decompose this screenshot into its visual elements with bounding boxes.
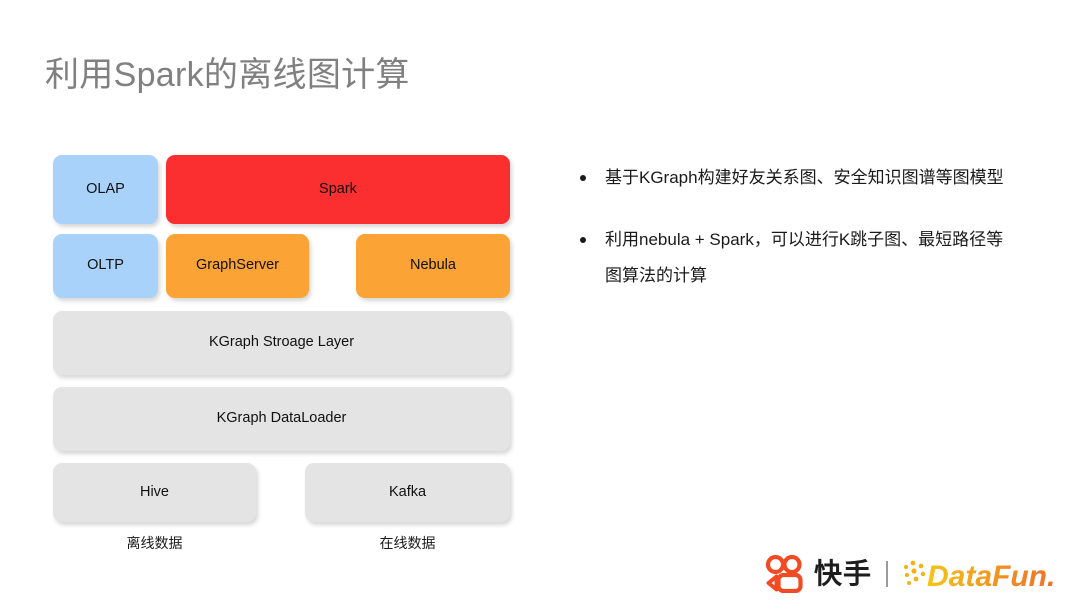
node-kafka[interactable]: Kafka: [305, 463, 510, 522]
kuaishou-logo: 快手: [765, 555, 872, 593]
bullet-dot-icon: [580, 175, 586, 181]
bullet-dot-icon: [580, 237, 586, 243]
caption-offline-data: 离线数据: [53, 533, 256, 553]
node-oltp-label: OLTP: [87, 257, 124, 274]
node-nebula-label: Nebula: [410, 257, 456, 274]
datafun-dots-icon: DataFun.: [902, 555, 1060, 593]
datafun-logo: DataFun.: [902, 555, 1060, 593]
logo-divider: [886, 561, 888, 587]
kuaishou-camera-icon: [765, 555, 807, 593]
node-olap[interactable]: OLAP: [53, 155, 158, 224]
node-spark[interactable]: Spark: [166, 155, 510, 224]
node-nebula[interactable]: Nebula: [356, 234, 510, 298]
datafun-logo-text: DataFun.: [927, 560, 1055, 593]
bullet-text: 利用nebula + Spark，可以进行K跳子图、最短路径等图算法的计算: [605, 230, 1003, 285]
list-item: 基于KGraph构建好友关系图、安全知识图谱等图模型: [575, 160, 1015, 196]
node-hive[interactable]: Hive: [53, 463, 256, 522]
node-graphserver-label: GraphServer: [196, 257, 279, 274]
caption-online-data: 在线数据: [305, 533, 510, 553]
kuaishou-logo-text: 快手: [814, 560, 872, 588]
list-item: 利用nebula + Spark，可以进行K跳子图、最短路径等图算法的计算: [575, 222, 1015, 294]
bullet-text: 基于KGraph构建好友关系图、安全知识图谱等图模型: [605, 168, 1004, 187]
node-graphserver[interactable]: GraphServer: [166, 234, 309, 298]
node-hive-label: Hive: [140, 484, 169, 501]
node-kgraph-storage-layer[interactable]: KGraph Stroage Layer: [53, 311, 510, 375]
bullet-list: 基于KGraph构建好友关系图、安全知识图谱等图模型 利用nebula + Sp…: [575, 160, 1015, 320]
node-kafka-label: Kafka: [389, 484, 426, 501]
kgraph-architecture-diagram: OLAP Spark OLTP GraphServer Nebula KGrap…: [0, 0, 560, 608]
node-spark-label: Spark: [319, 181, 357, 198]
node-olap-label: OLAP: [86, 181, 125, 198]
footer-logos: 快手 DataFun.: [765, 550, 1060, 598]
node-oltp[interactable]: OLTP: [53, 234, 158, 298]
node-kgraph-dataloader[interactable]: KGraph DataLoader: [53, 387, 510, 451]
node-kgraph-dataloader-label: KGraph DataLoader: [217, 410, 347, 427]
node-kgraph-storage-layer-label: KGraph Stroage Layer: [209, 334, 354, 351]
